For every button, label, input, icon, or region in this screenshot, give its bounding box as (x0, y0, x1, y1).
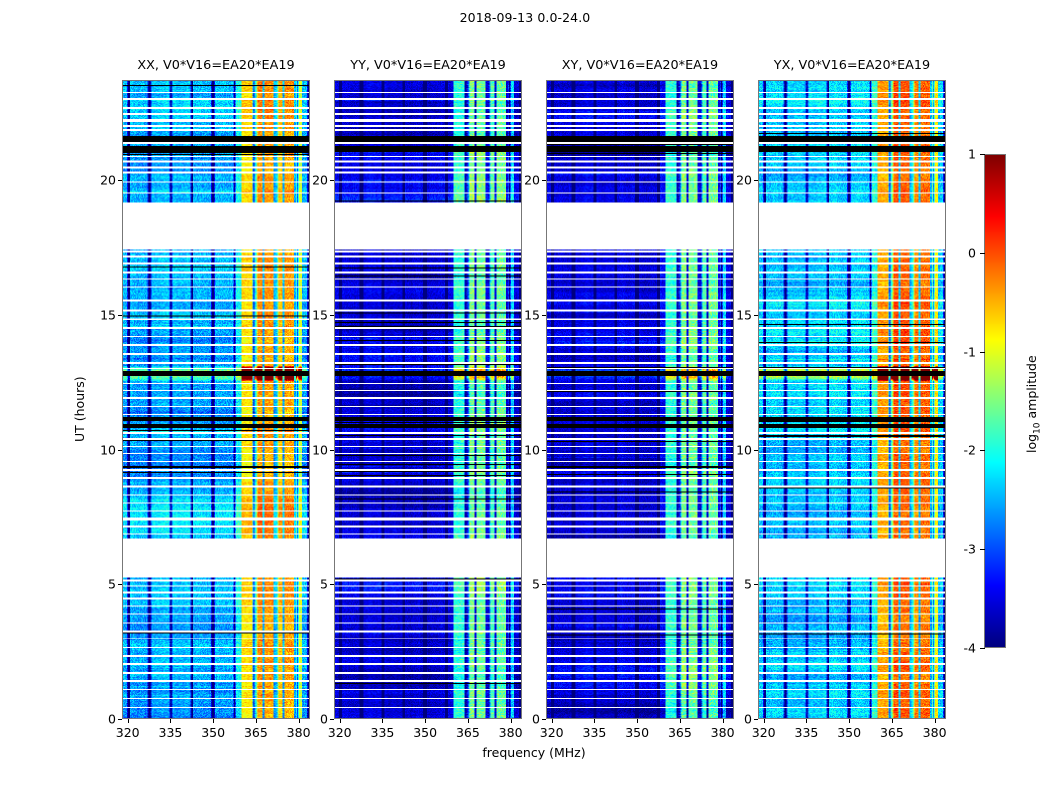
panel-title-xy: XY, V0*V16=EA20*EA19 (546, 58, 734, 73)
x-tick-label: 320 (328, 725, 352, 740)
y-tick (118, 719, 122, 720)
y-tick (754, 719, 758, 720)
panel-xx: XX, V0*V16=EA20*EA19 (122, 80, 310, 719)
x-tick (935, 719, 936, 723)
y-tick (754, 180, 758, 181)
waterfall-yy[interactable] (334, 80, 522, 719)
panel-yy: YY, V0*V16=EA20*EA19 (334, 80, 522, 719)
x-tick-label: 380 (923, 725, 947, 740)
colorbar-tick (980, 648, 985, 649)
colorbar-gradient (985, 155, 1005, 647)
y-tick (330, 719, 334, 720)
y-tick (118, 584, 122, 585)
colorbar-tick (980, 253, 985, 254)
x-tick-label: 335 (158, 725, 182, 740)
y-tick (330, 180, 334, 181)
y-tick-label: 0 (304, 712, 328, 727)
x-tick (637, 719, 638, 723)
x-tick (680, 719, 681, 723)
y-tick-label: 15 (304, 307, 328, 322)
panel-title-yx: YX, V0*V16=EA20*EA19 (758, 58, 946, 73)
x-tick (340, 719, 341, 723)
waterfall-xx[interactable] (122, 80, 310, 719)
x-tick-label: 320 (752, 725, 776, 740)
y-tick-label: 10 (304, 442, 328, 457)
colorbar-label-prefix: log (1024, 434, 1039, 453)
y-tick (330, 450, 334, 451)
colorbar-tick (980, 154, 985, 155)
x-tick-label: 380 (287, 725, 311, 740)
x-tick-label: 350 (837, 725, 861, 740)
x-tick (213, 719, 214, 723)
x-tick-label: 350 (625, 725, 649, 740)
y-tick (754, 450, 758, 451)
x-tick-label: 350 (201, 725, 225, 740)
x-tick-label: 320 (116, 725, 140, 740)
x-tick-label: 365 (456, 725, 480, 740)
x-tick (594, 719, 595, 723)
y-tick (542, 315, 546, 316)
colorbar-label-subscript: 10 (1033, 422, 1043, 433)
y-tick (542, 584, 546, 585)
y-tick (542, 450, 546, 451)
y-tick (118, 315, 122, 316)
colorbar-label-suffix: amplitude (1024, 355, 1039, 422)
colorbar-label: log10 amplitude (1024, 355, 1043, 453)
y-tick-label: 0 (728, 712, 752, 727)
x-tick-label: 320 (540, 725, 564, 740)
waterfall-xy[interactable] (546, 80, 734, 719)
colorbar (984, 154, 1006, 648)
y-tick-label: 5 (92, 577, 116, 592)
colorbar-tick (980, 549, 985, 550)
x-tick-label: 365 (668, 725, 692, 740)
waterfall-yx[interactable] (758, 80, 946, 719)
x-tick-label: 380 (499, 725, 523, 740)
x-tick-label: 365 (880, 725, 904, 740)
waterfall-canvas-xy (547, 81, 733, 718)
x-tick-label: 380 (711, 725, 735, 740)
y-tick (330, 315, 334, 316)
x-tick (723, 719, 724, 723)
y-tick-label: 10 (92, 442, 116, 457)
x-tick-label: 335 (370, 725, 394, 740)
figure-root: 2018-09-13 0.0-24.0 XX, V0*V16=EA20*EA19… (0, 0, 1050, 800)
panel-yx: YX, V0*V16=EA20*EA19 (758, 80, 946, 719)
y-tick-label: 5 (728, 577, 752, 592)
x-tick (256, 719, 257, 723)
y-tick (754, 315, 758, 316)
y-tick (330, 584, 334, 585)
colorbar-tick-label: -3 (946, 542, 976, 557)
x-tick-label: 365 (244, 725, 268, 740)
waterfall-canvas-yx (759, 81, 945, 718)
y-tick-label: 15 (92, 307, 116, 322)
x-tick-label: 335 (582, 725, 606, 740)
x-tick (425, 719, 426, 723)
y-tick-label: 20 (92, 173, 116, 188)
x-tick (764, 719, 765, 723)
x-tick (892, 719, 893, 723)
y-tick (118, 450, 122, 451)
colorbar-tick-label: -4 (946, 641, 976, 656)
y-tick-label: 10 (728, 442, 752, 457)
y-tick-label: 0 (92, 712, 116, 727)
y-tick-label: 20 (516, 173, 540, 188)
y-tick-label: 0 (516, 712, 540, 727)
y-tick (542, 719, 546, 720)
colorbar-tick (980, 450, 985, 451)
panel-title-xx: XX, V0*V16=EA20*EA19 (122, 58, 310, 73)
x-tick-label: 350 (413, 725, 437, 740)
x-tick (170, 719, 171, 723)
y-tick (754, 584, 758, 585)
y-tick-label: 10 (516, 442, 540, 457)
x-tick (382, 719, 383, 723)
x-tick (849, 719, 850, 723)
colorbar-tick (980, 352, 985, 353)
figure-suptitle: 2018-09-13 0.0-24.0 (0, 10, 1050, 25)
colorbar-tick-label: 1 (946, 147, 976, 162)
colorbar-tick-label: -1 (946, 344, 976, 359)
colorbar-tick-label: 0 (946, 245, 976, 260)
panel-xy: XY, V0*V16=EA20*EA19 (546, 80, 734, 719)
y-tick-label: 5 (516, 577, 540, 592)
y-axis-label: UT (hours) (72, 376, 87, 442)
colorbar-tick-label: -2 (946, 443, 976, 458)
y-tick (542, 180, 546, 181)
x-tick-label: 335 (794, 725, 818, 740)
x-tick (299, 719, 300, 723)
y-tick-label: 15 (728, 307, 752, 322)
y-tick-label: 20 (304, 173, 328, 188)
y-tick (118, 180, 122, 181)
x-axis-label: frequency (MHz) (122, 745, 946, 760)
panel-title-yy: YY, V0*V16=EA20*EA19 (334, 58, 522, 73)
y-tick-label: 15 (516, 307, 540, 322)
y-tick-label: 20 (728, 173, 752, 188)
waterfall-canvas-yy (335, 81, 521, 718)
x-tick (128, 719, 129, 723)
waterfall-canvas-xx (123, 81, 309, 718)
x-tick (552, 719, 553, 723)
x-tick (511, 719, 512, 723)
x-tick (468, 719, 469, 723)
x-tick (806, 719, 807, 723)
y-tick-label: 5 (304, 577, 328, 592)
